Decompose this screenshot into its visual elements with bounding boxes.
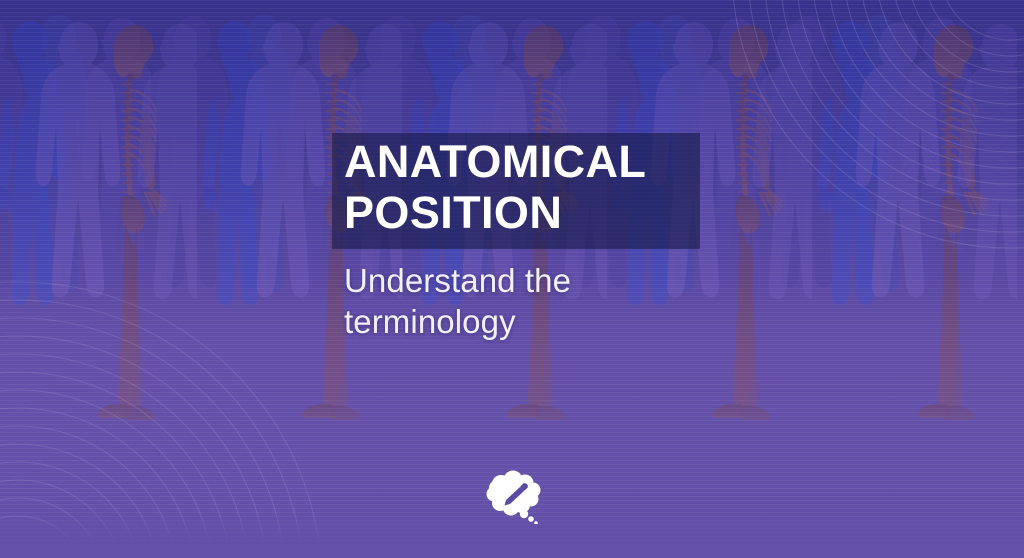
page-subtitle: Understand the terminology (344, 260, 744, 342)
thought-bubble-pencil-logo[interactable] (484, 468, 546, 524)
page-title: ANATOMICAL POSITION (344, 136, 744, 238)
silhouette-tile (812, 0, 1017, 558)
front-body-silhouette (138, 24, 197, 299)
silhouette-tile (0, 0, 197, 558)
anatomical-position-banner: ANATOMICAL POSITION Understand the termi… (0, 0, 1024, 558)
headline-block: ANATOMICAL POSITION Understand the termi… (344, 136, 744, 342)
